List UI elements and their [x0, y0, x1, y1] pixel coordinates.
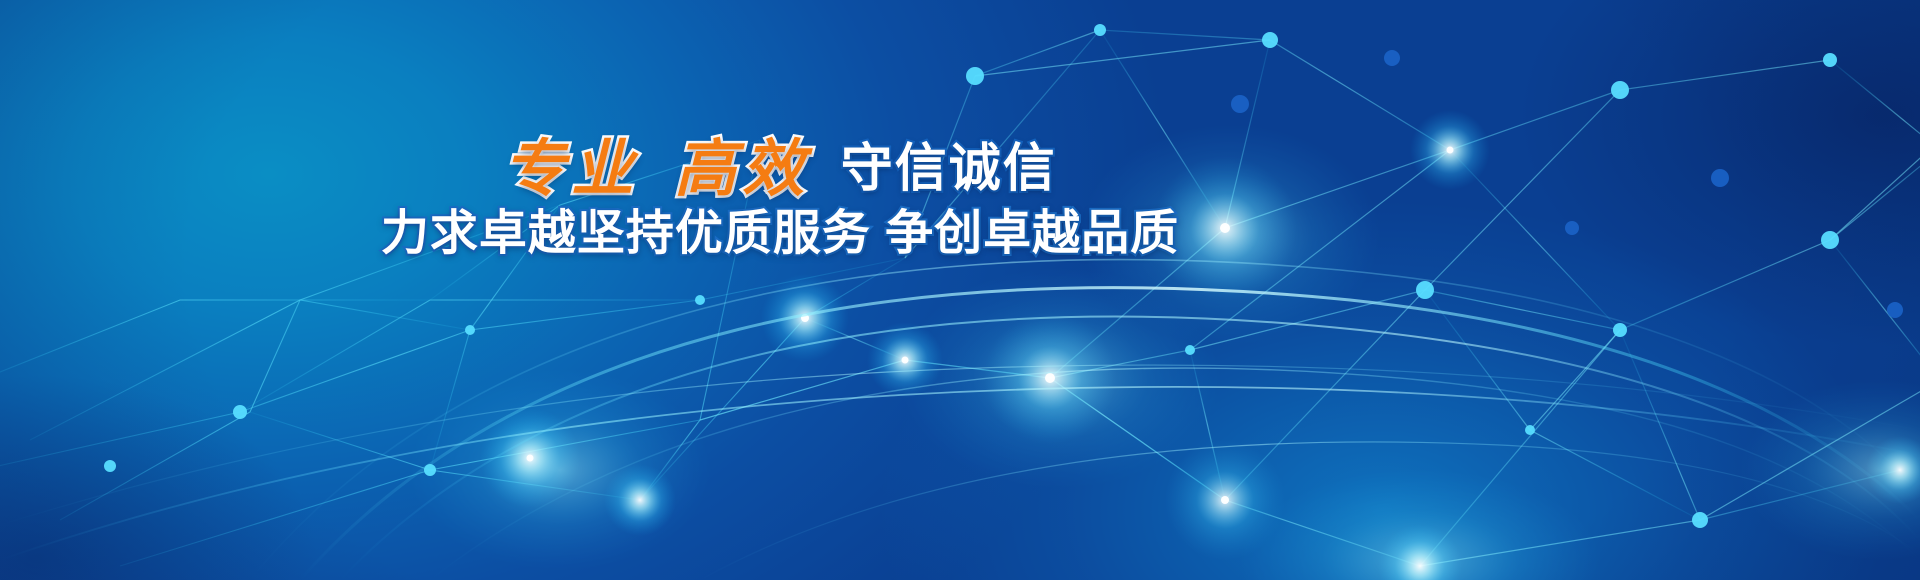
- headline-white-守信诚信: 守信诚信: [841, 140, 1057, 198]
- headline-brush-专业: 专业: [503, 132, 639, 205]
- slogan-subline: 力求卓越坚持优质服务 争创卓越品质: [0, 206, 1560, 261]
- headline-row: 专业 高效 守信诚信: [0, 138, 1560, 200]
- promo-banner: 专业 高效 守信诚信 力求卓越坚持优质服务 争创卓越品质: [0, 0, 1920, 580]
- soft-glow-overlay: [0, 0, 1920, 580]
- headline-brush-高效: 高效: [674, 132, 810, 205]
- slogan-text-block: 专业 高效 守信诚信 力求卓越坚持优质服务 争创卓越品质: [0, 138, 1560, 261]
